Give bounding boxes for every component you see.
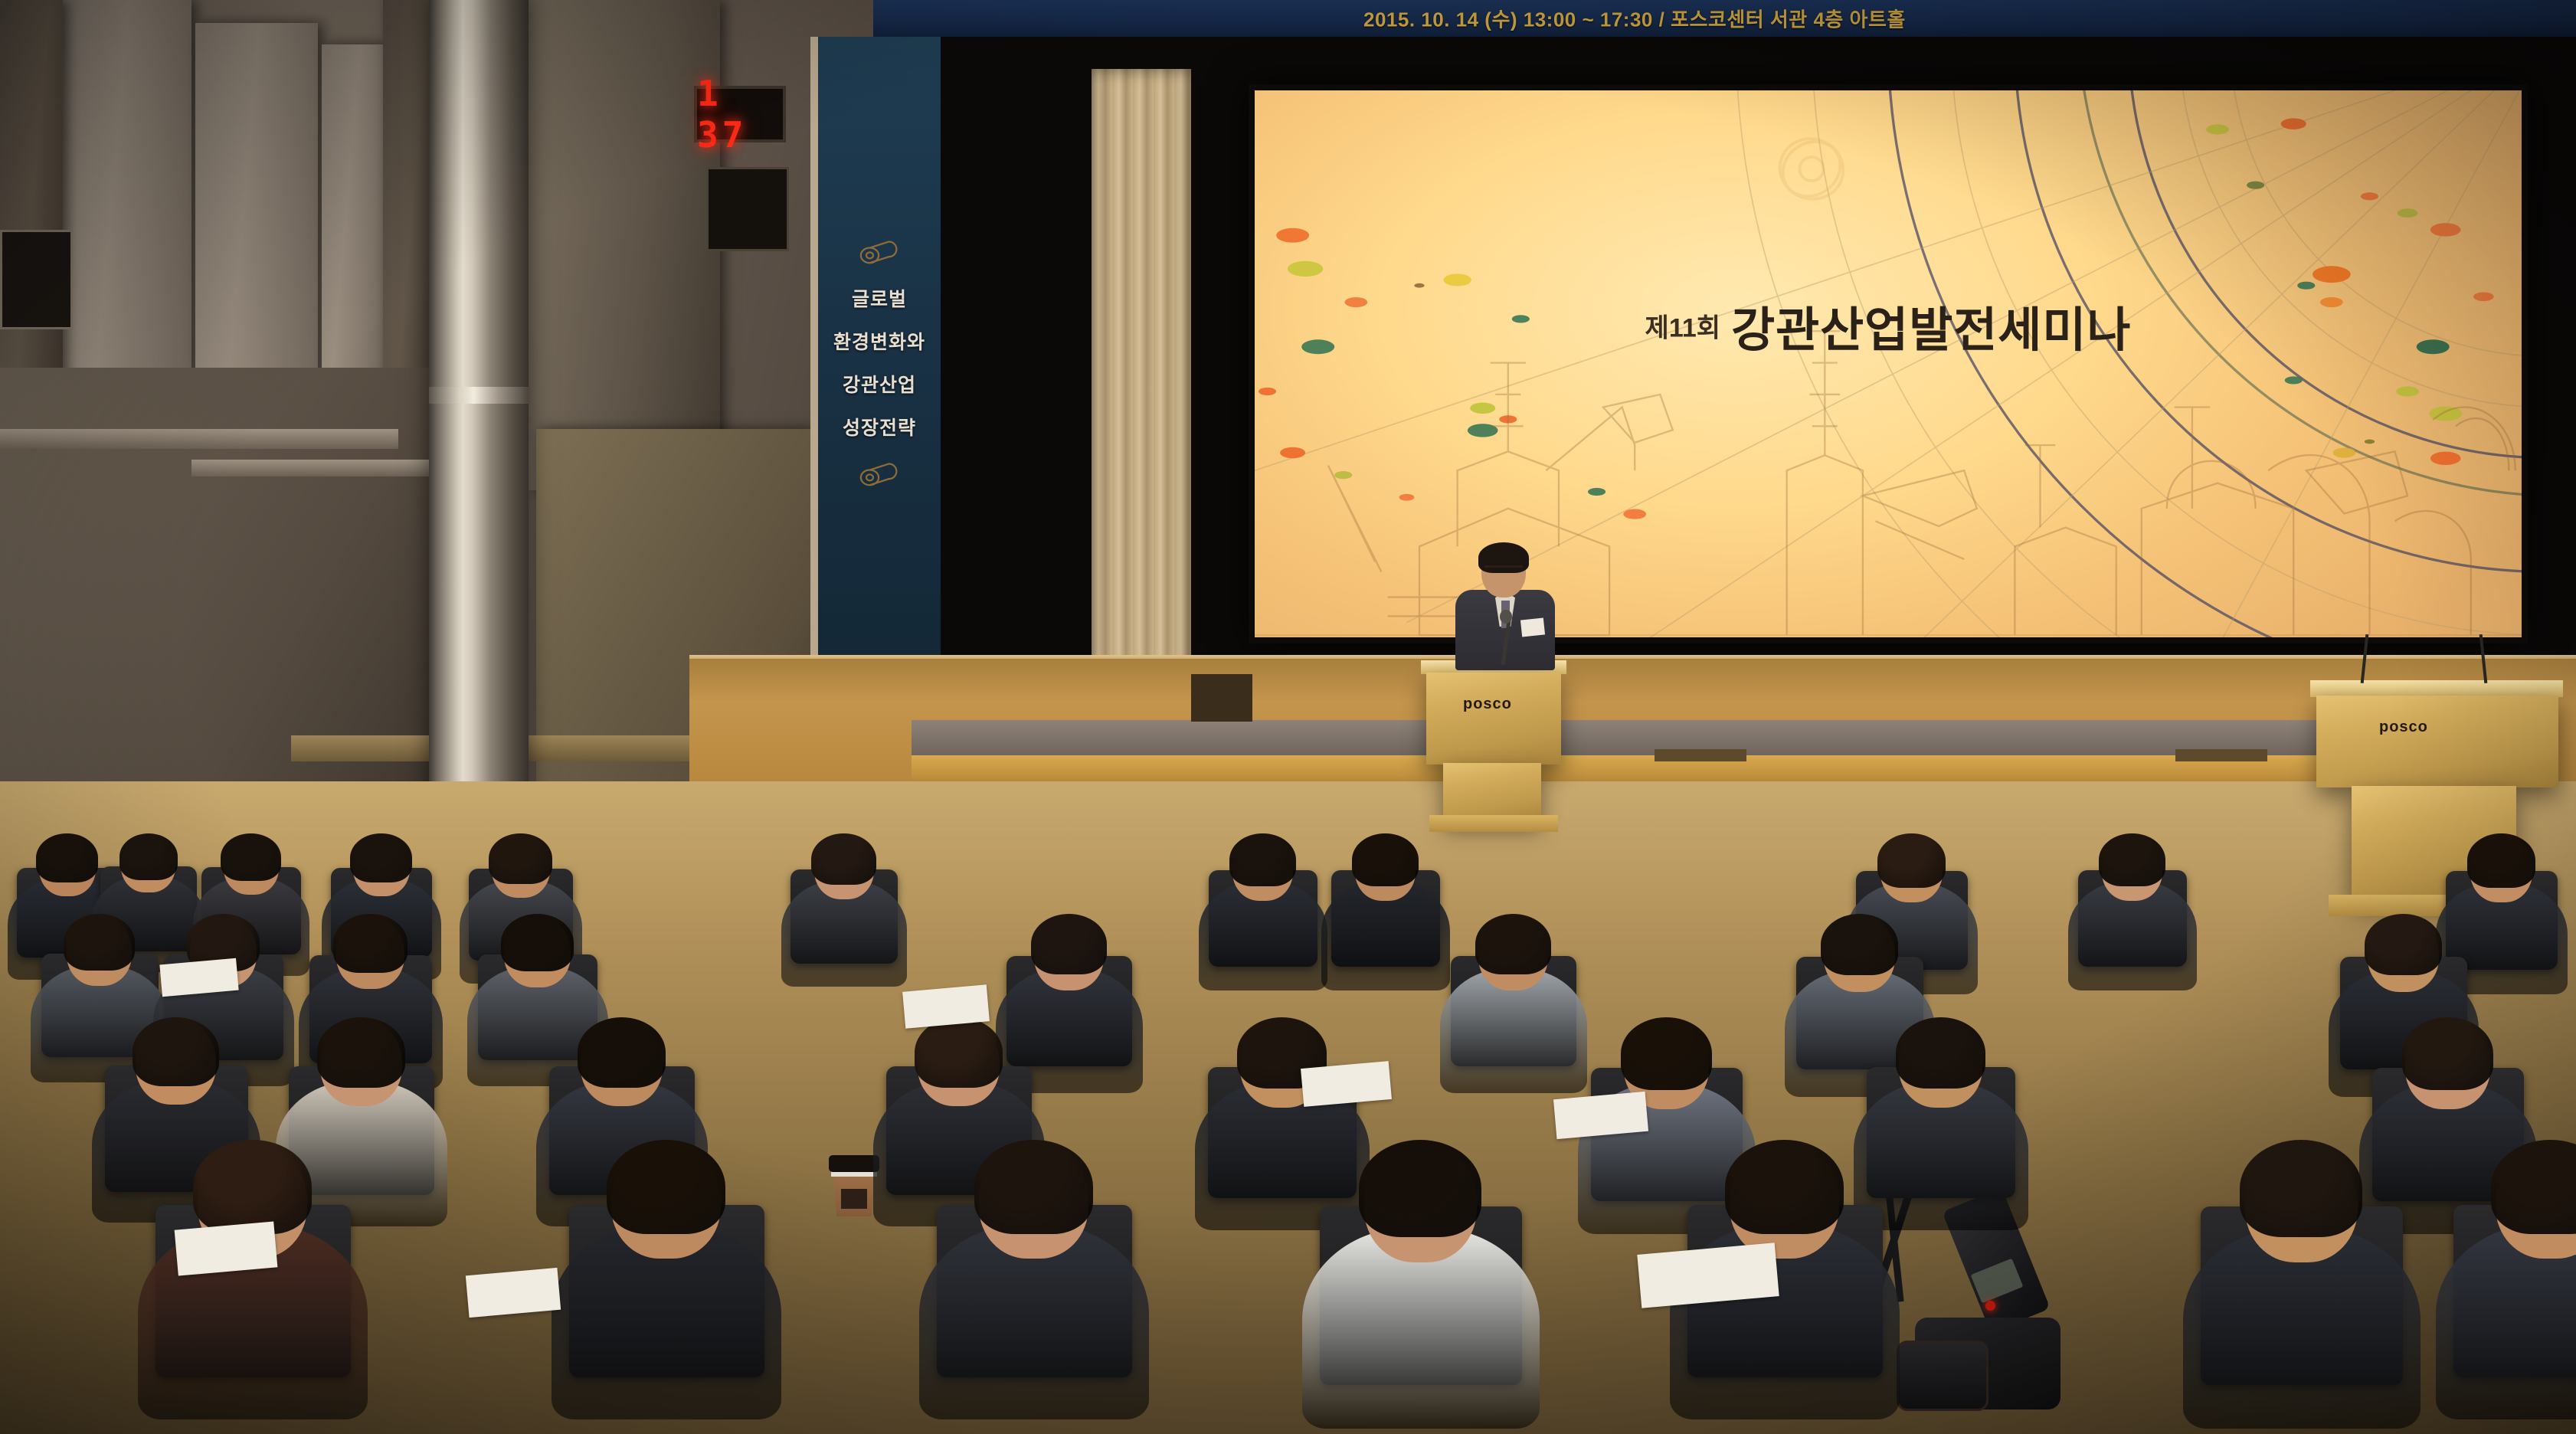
audience-hair xyxy=(1896,1017,1985,1089)
audience-hair xyxy=(133,1017,219,1086)
audience-hair xyxy=(489,833,552,884)
audience-hair xyxy=(2099,833,2165,886)
audience-member xyxy=(552,1141,793,1434)
audience-member xyxy=(2068,835,2203,1002)
audience-hair xyxy=(317,1017,405,1088)
audience-hair xyxy=(2365,914,2442,975)
handout-paper xyxy=(902,984,990,1028)
audience-hair xyxy=(607,1140,725,1234)
audience-hair xyxy=(1229,833,1296,886)
audience-hair xyxy=(1725,1140,1844,1234)
audience-hair xyxy=(36,833,97,882)
audience-hair xyxy=(974,1140,1093,1234)
audience-hair xyxy=(1475,914,1551,974)
audience-hair xyxy=(501,914,574,971)
audience-hair xyxy=(193,1140,312,1234)
audience-hair xyxy=(1621,1017,1712,1090)
handout-paper xyxy=(175,1221,278,1275)
audience-hair xyxy=(350,833,411,882)
cup-label xyxy=(841,1189,867,1209)
cup-lid xyxy=(829,1155,879,1172)
audience-member xyxy=(2183,1141,2433,1434)
audience-hair xyxy=(333,914,408,973)
audience-hair xyxy=(2402,1017,2493,1090)
audience-hair xyxy=(915,1017,1003,1088)
audience-member xyxy=(1321,835,1456,1002)
camera-led-indicator xyxy=(1985,1301,1995,1311)
audience-member xyxy=(1302,1141,1552,1434)
audience-hair xyxy=(1821,914,1898,975)
audience-hair xyxy=(2491,1140,2576,1234)
audience-member xyxy=(1199,835,1334,1002)
auditorium-photo: 1 37 2015. 10. 14 (수) 13:00 ~ 17:30 / 포스… xyxy=(0,0,2576,1434)
audience-hair xyxy=(811,833,876,885)
audience-hair xyxy=(2467,833,2535,888)
audience-member xyxy=(781,835,913,998)
coffee-cup xyxy=(829,1151,879,1216)
audience-hair xyxy=(1877,833,1946,888)
audience-hair xyxy=(119,833,178,880)
handout-paper xyxy=(159,958,238,997)
audience-member xyxy=(2436,1141,2576,1434)
handout-paper xyxy=(1553,1092,1648,1139)
audience-hair xyxy=(1031,914,1107,974)
audience-member xyxy=(1440,915,1595,1107)
audience-hair xyxy=(1359,1140,1481,1237)
audience-hair xyxy=(2240,1140,2362,1237)
audience-member xyxy=(919,1141,1160,1434)
handout-paper xyxy=(1301,1061,1392,1107)
audience-hair xyxy=(1352,833,1419,886)
audience-hair xyxy=(578,1017,666,1088)
handout-paper xyxy=(466,1268,561,1318)
audience-hair xyxy=(64,914,135,971)
audience-hair xyxy=(221,833,280,881)
audience-member xyxy=(138,1141,379,1434)
